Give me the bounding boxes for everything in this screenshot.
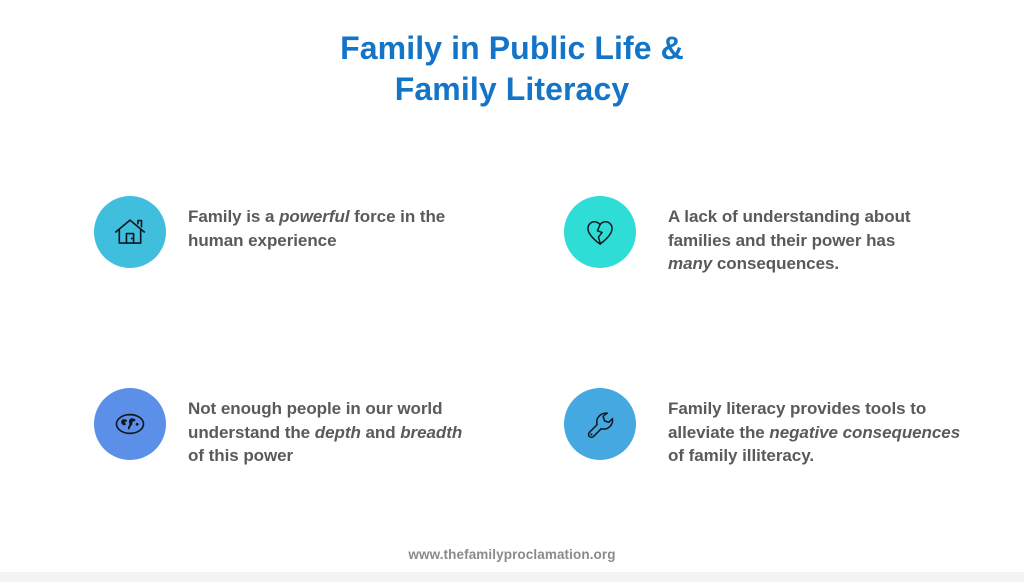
wrench-icon-circle [564,388,636,460]
content-item-top-left: Family is a powerful force in the human … [94,196,494,268]
text-segment-italic: powerful [279,207,349,226]
text-segment-italic: breadth [400,423,462,442]
content-grid: Family is a powerful force in the human … [0,196,1024,526]
content-item-text: Family literacy provides tools to allevi… [668,388,974,468]
text-segment: A lack of understanding about families a… [668,207,911,250]
slide-canvas: Family in Public Life & Family Literacy … [0,0,1024,582]
content-item-text: A lack of understanding about families a… [668,196,916,276]
content-item-bottom-left: Not enough people in our world understan… [94,388,494,468]
content-item-top-right: A lack of understanding about families a… [564,196,984,276]
title-line-1: Family in Public Life & [0,28,1024,69]
text-segment-italic: depth [315,423,361,442]
broken-heart-icon-circle [564,196,636,268]
page-title: Family in Public Life & Family Literacy [0,28,1024,110]
text-segment: Family is a [188,207,279,226]
broken-heart-icon [583,215,617,249]
content-item-text: Family is a powerful force in the human … [188,196,480,252]
title-line-2: Family Literacy [0,69,1024,110]
bottom-strip [0,572,1024,582]
content-item-bottom-right: Family literacy provides tools to allevi… [564,388,984,468]
wrench-icon [583,407,617,441]
text-segment: and [361,423,400,442]
text-segment: consequences. [712,254,839,273]
content-item-text: Not enough people in our world understan… [188,388,478,468]
globe-icon-circle [94,388,166,460]
text-segment-italic: many [668,254,712,273]
globe-icon [112,406,148,442]
text-segment: of family illiteracy. [668,446,814,465]
text-segment: of this power [188,446,293,465]
text-segment-italic: negative consequences [769,423,960,442]
footer: www.thefamilyproclamation.org [0,546,1024,564]
footer-url: www.thefamilyproclamation.org [408,547,615,562]
house-icon-circle [94,196,166,268]
house-icon [111,213,149,251]
